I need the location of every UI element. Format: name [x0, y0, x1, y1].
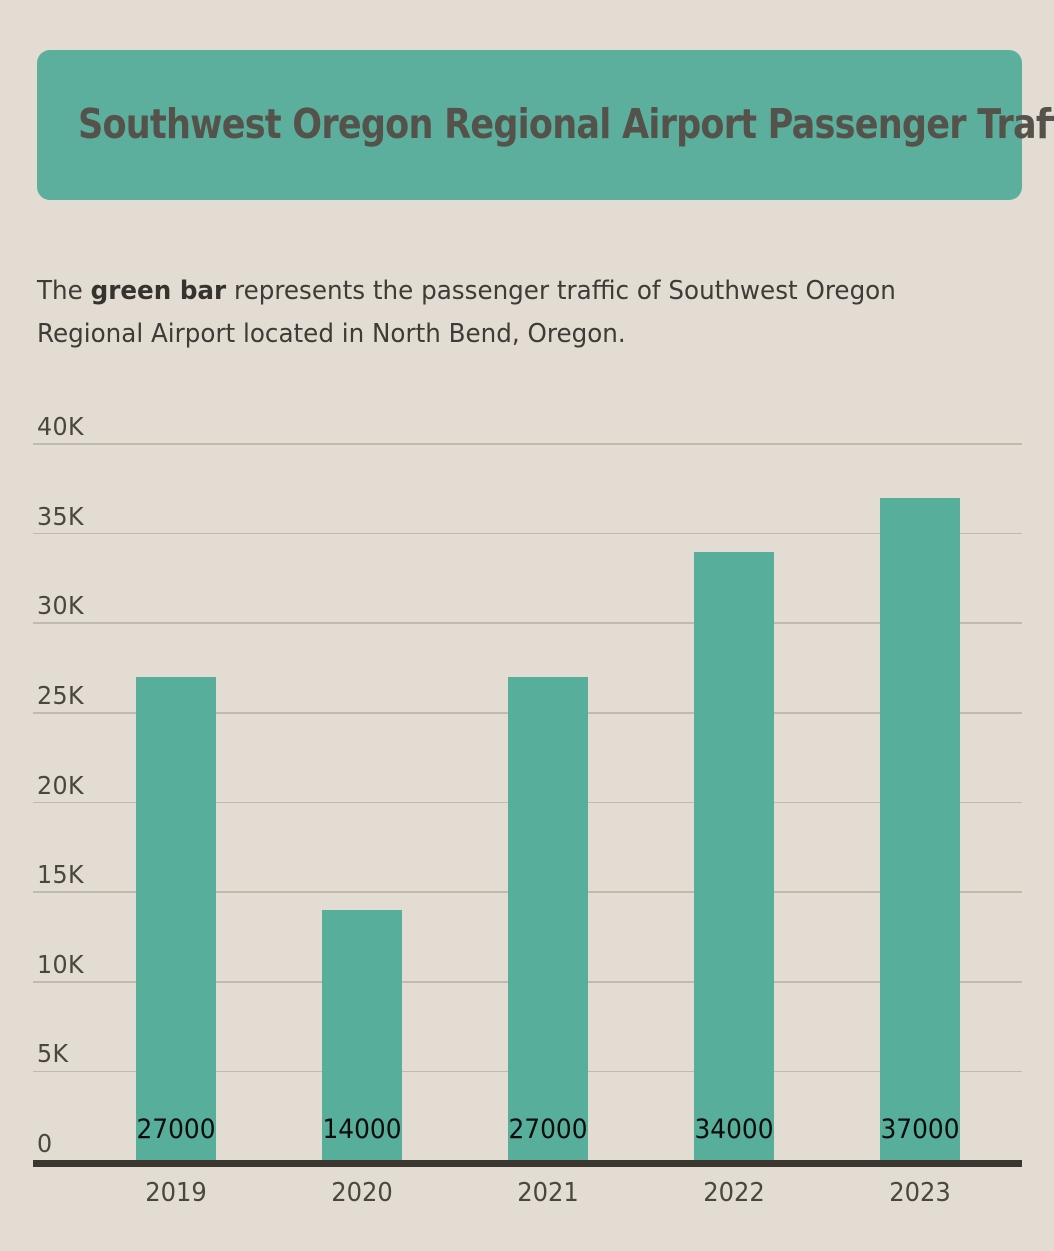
x-axis-line	[33, 1160, 1022, 1167]
gridline	[33, 533, 1022, 535]
y-axis-tick-label: 15K	[37, 860, 84, 889]
y-axis-tick-label: 25K	[37, 681, 84, 710]
x-axis-tick-label: 2020	[288, 1178, 437, 1208]
gridline	[33, 622, 1022, 624]
y-axis-tick-label: 20K	[37, 771, 84, 800]
gridline	[33, 443, 1022, 445]
y-axis-tick-label: 35K	[37, 502, 84, 531]
bar[interactable]	[508, 677, 588, 1161]
y-axis-tick-label: 10K	[37, 950, 84, 979]
y-axis-tick-label: 0	[37, 1129, 52, 1158]
bar-value-label: 27000	[121, 1114, 231, 1145]
bar-value-label: 37000	[865, 1114, 975, 1145]
y-axis-tick-label: 5K	[37, 1039, 68, 1068]
y-axis-tick-label: 30K	[37, 591, 84, 620]
bar-value-label: 14000	[307, 1114, 417, 1145]
bar[interactable]	[694, 552, 774, 1161]
x-axis-tick-label: 2023	[846, 1178, 995, 1208]
x-axis-tick-label: 2022	[660, 1178, 809, 1208]
bar[interactable]	[136, 677, 216, 1161]
x-axis-tick-label: 2019	[102, 1178, 251, 1208]
bar-value-label: 34000	[679, 1114, 789, 1145]
chart-page: Southwest Oregon Regional Airport Passen…	[0, 0, 1054, 1251]
bar[interactable]	[880, 498, 960, 1161]
bar-value-label: 27000	[493, 1114, 603, 1145]
x-axis-tick-label: 2021	[474, 1178, 623, 1208]
y-axis-tick-label: 40K	[37, 412, 84, 441]
bar-chart: 05K10K15K20K25K30K35K40K 270001400027000…	[0, 0, 1054, 1251]
